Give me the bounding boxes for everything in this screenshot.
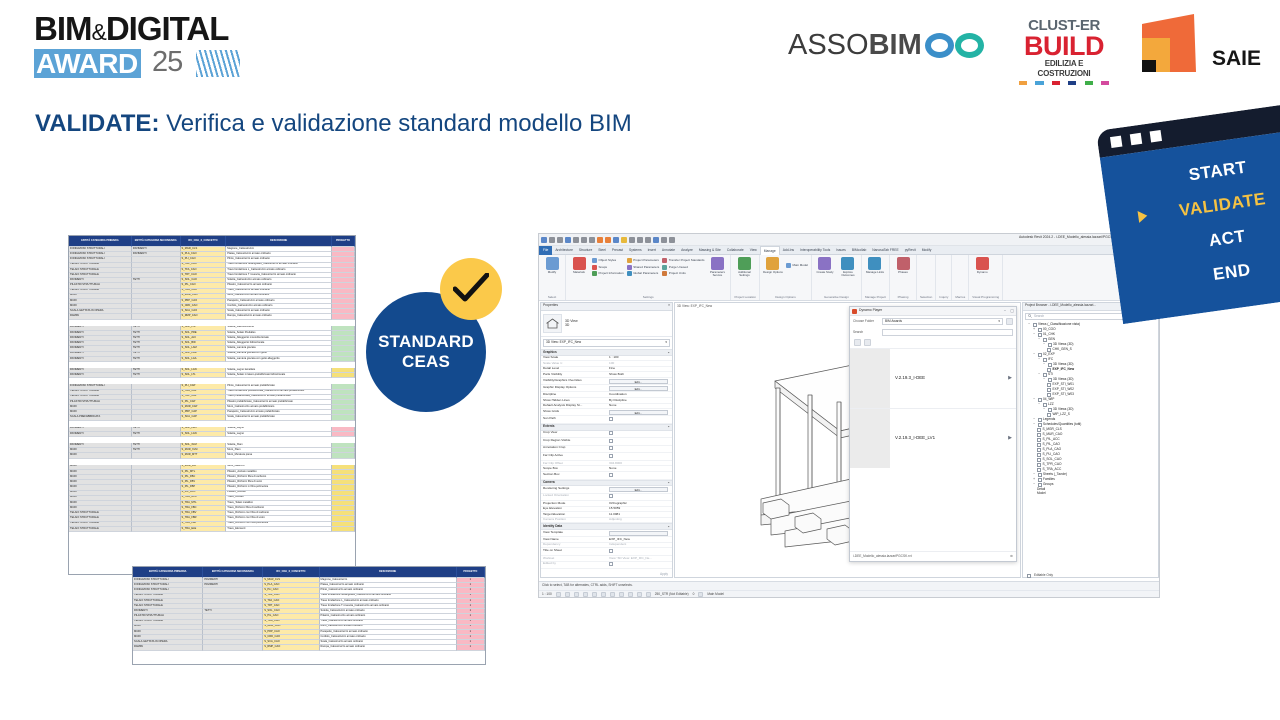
shadows-icon[interactable] — [583, 592, 588, 597]
grid-view-icon[interactable] — [854, 339, 861, 346]
property-value[interactable]: 304.8000 — [609, 462, 670, 465]
cluster-subtitle-text: EDILIZIA E COSTRUZIONI — [1019, 59, 1109, 79]
property-name: Edited by — [543, 562, 609, 567]
property-row[interactable]: Edited by — [541, 562, 672, 570]
ribbon-tab-view[interactable]: View — [747, 246, 760, 255]
checkbox[interactable] — [609, 454, 613, 458]
property-name: Target Elevation — [543, 513, 609, 516]
tree-node-label: 3D Views (3D) — [1053, 363, 1074, 367]
ribbon-tab-add-ins[interactable]: Add-Ins — [780, 246, 797, 255]
folder-icon — [1038, 423, 1042, 427]
property-value[interactable]: Adjusting — [609, 518, 670, 521]
ribbon-tab-bar[interactable]: FileArchitectureStructureSteelPrecastSys… — [539, 246, 1159, 255]
edit-button[interactable]: Edit... — [609, 487, 668, 492]
property-name: Parts Visibility — [543, 373, 609, 376]
purge-unused-icon — [662, 265, 667, 270]
save-as-icon[interactable] — [573, 237, 579, 243]
property-name: Show Grids — [543, 410, 609, 415]
ribbon-item-purge-unused[interactable]: Purge Unused — [662, 265, 704, 270]
reveal-hidden-icon[interactable] — [628, 592, 633, 597]
chevron-down-icon[interactable]: ▾ — [665, 341, 667, 345]
ribbon-button-design-options[interactable]: Design Options — [763, 257, 783, 274]
detail-level-icon[interactable] — [556, 592, 561, 597]
property-value[interactable] — [609, 473, 670, 478]
ribbon-button-materials[interactable]: Materials — [569, 257, 589, 277]
crop-view-icon[interactable] — [601, 592, 606, 597]
property-name: Camera Position — [543, 518, 609, 521]
print-icon[interactable] — [597, 237, 603, 243]
properties-palette[interactable]: Properties × 3D View 3D 3D View: EXP_IFC… — [540, 302, 673, 578]
property-value[interactable] — [609, 454, 670, 459]
tree-node-label: S_TRA_ACC — [1043, 468, 1062, 472]
run-script-icon[interactable]: ▶ — [1004, 436, 1016, 442]
ribbon-button-phases[interactable]: Phases — [893, 257, 913, 274]
ribbon-item-global-parameters[interactable]: Global Parameters — [627, 271, 660, 276]
ribbon-tab-annotate[interactable]: Annotate — [659, 246, 678, 255]
property-value[interactable] — [609, 531, 670, 536]
ribbon-group-visual-programming[interactable]: DynamoVisual Programming — [969, 255, 1003, 300]
run-script-icon[interactable]: ▶ — [1004, 376, 1016, 382]
maximize-icon[interactable]: ▢ — [1010, 309, 1014, 313]
constraints-icon[interactable] — [646, 592, 651, 597]
ribbon-group-select[interactable]: ModifySelect — [539, 255, 566, 300]
collapse-minus-icon[interactable]: − — [1032, 353, 1036, 357]
collapse-minus-icon[interactable]: − — [1042, 363, 1046, 367]
project-units-icon — [662, 271, 667, 276]
property-row[interactable]: Rendering SettingsEdit... — [541, 486, 672, 493]
ribbon-button-modify[interactable]: Modify — [542, 257, 562, 274]
collapse-minus-icon[interactable]: − — [1032, 398, 1036, 402]
dynamo-folder-row[interactable]: Choose Folder BIM Awards ▾ — [850, 316, 1016, 327]
window-dot-2-icon — [1130, 133, 1142, 145]
collapse-minus-icon[interactable]: − — [1037, 373, 1041, 377]
property-name: Crop Region Visible — [543, 439, 609, 444]
ribbon-item-project-units[interactable]: Project Units — [662, 271, 704, 276]
choose-folder-value: BIM Awards — [885, 320, 902, 324]
temporary-hide-isolate-icon[interactable] — [619, 592, 624, 597]
dimension-icon[interactable] — [629, 237, 635, 243]
view-icon — [1047, 368, 1051, 372]
collapse-minus-icon[interactable]: − — [1037, 338, 1041, 342]
property-row[interactable]: Crop Region Visible — [541, 438, 672, 446]
view-icon — [1037, 458, 1041, 462]
project-browser-panel[interactable]: Project Browser - i-DEE_Modello_alessia.… — [1022, 302, 1159, 578]
ribbon-item-snaps[interactable]: Snaps — [592, 265, 624, 270]
ribbon-group-manage-project[interactable]: Manage LinksManage Project — [862, 255, 890, 300]
tree-node-label: GEN — [1048, 338, 1055, 342]
ribbon-group-label: Manage Project — [865, 296, 886, 300]
view-icon — [1047, 388, 1051, 392]
revit-application-screenshot: Autodesk Revit 2024.2 - i-DEE_Modello_al… — [538, 233, 1160, 598]
cell-description: Trave_Elementi — [226, 527, 332, 532]
tree-node-label: S_PIL_CAO — [1043, 443, 1060, 447]
properties-type-preview: 3D View 3D — [541, 311, 672, 337]
dynamo-script-list[interactable]: V.2.19.3_I-DEE▶V.2.19.3_I-DEE_LV1▶ — [850, 348, 1016, 468]
tree-node-label: Schedules/Quantities (tutti) — [1043, 423, 1081, 427]
ribbon-tab-precast[interactable]: Precast — [609, 246, 626, 255]
ribbon-tab-pyrevit[interactable]: pyRevit — [902, 246, 919, 255]
ribbon-item-project-information[interactable]: Project Information — [592, 271, 624, 276]
folder-icon — [1043, 373, 1047, 377]
tree-node-label: EXP_STI_W02 — [1053, 388, 1074, 392]
tree-node-label: 00_COO — [1043, 328, 1056, 332]
cluster-color-bars — [1019, 81, 1109, 85]
property-name: Discipline — [543, 393, 609, 396]
ribbon-button-parameters-service[interactable]: Parameters Service — [707, 257, 727, 277]
collapse-minus-icon[interactable]: − — [1032, 423, 1036, 427]
property-row[interactable]: Crop View — [541, 431, 672, 439]
additional-settings-icon — [738, 257, 751, 270]
dynamo-script-item[interactable]: V.2.19.3_I-DEE_LV1▶ — [850, 408, 1016, 468]
redo-icon[interactable] — [589, 237, 595, 243]
property-value[interactable]: Edit... — [609, 379, 670, 384]
folder-icon — [1043, 403, 1047, 407]
property-value[interactable]: Edit... — [609, 410, 670, 415]
property-row[interactable]: Show GridsEdit... — [541, 409, 672, 416]
table-header-row: ENTITÀ CATEGORIA PRIMARIAENTITÀ CATEGORI… — [69, 236, 355, 247]
collapse-minus-icon[interactable]: − — [1032, 483, 1036, 487]
ribbon-tab-structure[interactable]: Structure — [576, 246, 595, 255]
nav-item-label: ACT — [1208, 226, 1247, 251]
folder-icon — [1038, 353, 1042, 357]
table-entity-classification-main: ENTITÀ CATEGORIA PRIMARIAENTITÀ CATEGORI… — [68, 235, 356, 575]
property-value[interactable]: 1 : 100 — [609, 356, 670, 359]
dynamo-search-row[interactable]: Search — [850, 327, 1016, 338]
nav-item-label: END — [1212, 260, 1252, 285]
property-name: Scope Box — [543, 467, 609, 470]
property-value[interactable]: Coordination — [609, 393, 670, 396]
main-model-label[interactable]: Main Model — [707, 593, 723, 597]
property-name: Projection Mode — [543, 502, 609, 505]
dynamo-view-toggle[interactable] — [850, 338, 1016, 348]
default-3d-view-icon[interactable] — [653, 237, 659, 243]
expand-plus-icon[interactable]: + — [1032, 478, 1036, 482]
close-icon[interactable]: × — [668, 304, 670, 309]
project-browser-footer[interactable]: Editable Only — [1025, 572, 1156, 579]
ribbon-button-explore-outcomes[interactable]: Explore Outcomes — [838, 257, 858, 277]
thin-lines-icon[interactable] — [661, 237, 667, 243]
align-icon[interactable] — [613, 237, 619, 243]
view-icon — [1047, 413, 1051, 417]
property-row[interactable]: Far Clip Active — [541, 453, 672, 461]
ribbon-tab-bimcollab[interactable]: BIMcollab — [849, 246, 869, 255]
tree-node-label: 04_WIP — [1043, 398, 1054, 402]
tree-node-label: Model — [1037, 492, 1046, 496]
ribbon-item-transfer-project-standards[interactable]: Transfer Project Standards — [662, 258, 704, 263]
checkbox[interactable] — [609, 439, 613, 443]
collapse-minus-icon[interactable]: − — [1032, 418, 1036, 422]
ribbon-group-label: Inquiry — [939, 296, 948, 300]
edit-button[interactable] — [609, 531, 668, 536]
ribbon-group-selection[interactable]: Selection — [917, 255, 936, 300]
measure-icon[interactable] — [605, 237, 611, 243]
ribbon-tab-massing-site[interactable]: Massing & Site — [696, 246, 724, 255]
property-value[interactable] — [609, 494, 670, 499]
checkbox[interactable] — [609, 431, 613, 435]
tree-node-label: 3D Views (3D) — [1053, 378, 1074, 382]
transfer-project-standards-icon — [662, 258, 667, 263]
property-value[interactable]: View "3D View: EXP_IFC_Ne... — [609, 557, 670, 560]
properties-type-line2: 3D — [565, 324, 578, 328]
edit-button[interactable]: Edit... — [609, 386, 668, 391]
property-value[interactable] — [609, 446, 670, 451]
view-icon — [1047, 348, 1051, 352]
view-icon — [1037, 433, 1041, 437]
properties-section-identity-data: Identity Data⌄ — [541, 523, 672, 530]
assobim-rings-icon — [925, 30, 991, 60]
type-selector-value: 3D View: EXP_IFC_New — [546, 341, 581, 345]
render-icon[interactable] — [592, 592, 597, 597]
ribbon-group-settings[interactable]: MaterialsObject StylesSnapsProject Infor… — [566, 255, 731, 300]
collapse-minus-icon[interactable]: − — [1032, 473, 1036, 477]
dynamo-footer: i-DEE_Modello_alessia.lazzariPGCSK.rvt ⚙ — [850, 551, 1016, 561]
ribbon-group-label: Visual Programming — [972, 296, 999, 300]
checkbox[interactable] — [609, 494, 613, 498]
ribbon-button-additional-settings[interactable]: Additional Settings — [734, 257, 754, 277]
property-value[interactable] — [609, 417, 670, 422]
ribbon-button-manage-links[interactable]: Manage Links — [865, 257, 885, 274]
property-value[interactable]: Orthographic — [609, 502, 670, 505]
folder-icon — [1048, 408, 1052, 412]
undo-icon[interactable] — [581, 237, 587, 243]
collapse-minus-icon[interactable]: − — [1042, 408, 1046, 412]
apply-label: Apply — [660, 573, 668, 577]
properties-rows[interactable]: Graphics⌄View Scale1 : 100Scale Value 1:… — [541, 349, 672, 569]
check-icon — [440, 258, 502, 320]
ribbon-group-label: Settings — [569, 296, 727, 300]
ribbon-group-phasing[interactable]: PhasesPhasing — [890, 255, 917, 300]
saie-mark-icon — [1136, 14, 1208, 72]
property-value[interactable] — [609, 549, 670, 554]
ribbon-group-macros[interactable]: Macros — [952, 255, 969, 300]
property-value[interactable]: Edit... — [609, 487, 670, 492]
property-row[interactable]: Graphic Display OptionsEdit... — [541, 385, 672, 392]
ribbon-tab-collaborate[interactable]: Collaborate — [724, 246, 747, 255]
ribbon-tab-file[interactable]: File — [539, 246, 552, 255]
ribbon-button-create-study[interactable]: Create Study — [815, 257, 835, 277]
property-name: Visibility/Graphics Overrides — [543, 379, 609, 384]
column-header: DESCRIZIONE — [226, 236, 332, 247]
save-icon[interactable] — [565, 237, 571, 243]
chevron-down-icon[interactable]: ▾ — [998, 320, 1000, 324]
table-entity-classification-secondary: ENTITÀ CATEGORIA PRIMARIAENTITÀ CATEGORI… — [132, 566, 486, 665]
ribbon-tab-modify[interactable]: Modify — [919, 246, 935, 255]
dynamo-titlebar: Dynamo Player − ▢ — [850, 307, 1016, 316]
cell-description: Rampa_Calcestruzzo armato ordinario — [320, 645, 457, 650]
ribbon-tab-insert[interactable]: Insert — [645, 246, 659, 255]
page-title-keyword: VALIDATE: — [35, 110, 159, 137]
ribbon-group-project-location[interactable]: Additional SettingsProject Location — [731, 255, 760, 300]
nav-item-label: VALIDATE — [1178, 189, 1267, 221]
ribbon-group-generative-design[interactable]: Create StudyExplore OutcomesGenerative D… — [812, 255, 862, 300]
collapse-minus-icon[interactable]: − — [1042, 378, 1046, 382]
property-value[interactable]: 11.0081 — [609, 513, 670, 516]
tree-node-label: EXP_IFC_New — [1053, 368, 1075, 372]
tree-node-label: STI — [1048, 373, 1053, 377]
tree-node-label: IFC — [1048, 358, 1053, 362]
script-thumbnail — [850, 349, 890, 408]
nav-panel-body[interactable]: STARTVALIDATEACTEND — [1100, 126, 1280, 324]
collapse-minus-icon[interactable]: − — [1042, 343, 1046, 347]
edit-button[interactable]: Edit... — [609, 379, 668, 384]
tag-icon[interactable] — [621, 237, 627, 243]
folder-icon — [1038, 398, 1042, 402]
dynamo-script-item[interactable]: V.2.19.3_I-DEE▶ — [850, 348, 1016, 408]
table-header-row: ENTITÀ CATEGORIA PRIMARIAENTITÀ CATEGORI… — [133, 567, 485, 578]
saie-text: SAIE — [1212, 47, 1261, 71]
collapse-minus-icon[interactable]: − — [1032, 333, 1036, 337]
property-row[interactable]: Locked Orientation — [541, 494, 672, 502]
hide-crop-icon[interactable] — [610, 592, 615, 597]
property-row[interactable]: Annotation Crop — [541, 446, 672, 454]
new-icon[interactable] — [549, 237, 555, 243]
property-value[interactable]: None — [609, 467, 670, 470]
ribbon-tab-manage[interactable]: Manage — [760, 246, 780, 255]
phases-icon — [897, 257, 910, 270]
shared-parameters-icon — [627, 265, 632, 270]
table-row: RAMPAS_RMP_CAORampa_Calcestruzzo armato … — [133, 645, 485, 650]
column-header: PROGETTO — [457, 567, 485, 578]
ribbon-tab-interoperability-tools[interactable]: Interoperability Tools — [797, 246, 833, 255]
status-controls-row[interactable]: 1 : 100 250_STR (Not Editable) 0 Main Mo… — [539, 590, 1159, 598]
ribbon-tab-systems[interactable]: Systems — [626, 246, 645, 255]
cell-code: S_TRA_ELE — [181, 527, 227, 532]
tree-node-label: Families — [1043, 478, 1055, 482]
logo-line-2: AWARD 25 — [34, 49, 239, 78]
close-hidden-windows-icon[interactable] — [669, 237, 675, 243]
active-workset[interactable]: 250_STR (Not Editable) — [655, 593, 689, 597]
property-value[interactable]: Edit... — [609, 386, 670, 391]
list-view-icon[interactable] — [864, 339, 871, 346]
checkbox[interactable] — [609, 446, 613, 450]
materials-icon — [573, 257, 586, 270]
script-thumbnail — [850, 409, 890, 468]
tree-node-label: Views (_Classificazione vista) — [1038, 323, 1080, 327]
editable-only-checkbox[interactable] — [1027, 574, 1031, 578]
ribbon-group-design-options[interactable]: Design OptionsMain ModelDesign Options — [760, 255, 812, 300]
slide-header: BIM&DIGITAL AWARD 25 ASSOBIM CLUST-ER BU… — [0, 0, 1280, 95]
search-input[interactable] — [882, 329, 1013, 336]
parameters-service-icon — [711, 257, 724, 270]
ribbon-tab-analyze[interactable]: Analyze — [678, 246, 696, 255]
expand-plus-icon[interactable]: + — [1032, 328, 1036, 332]
ribbon-tab-architecture[interactable]: Architecture — [552, 246, 576, 255]
ribbon-item-shared-parameters[interactable]: Shared Parameters — [627, 265, 660, 270]
tree-node-label: S_MGR_CLS — [1043, 428, 1062, 432]
ribbon-tab-steel[interactable]: Steel — [595, 246, 609, 255]
properties-section-graphics: Graphics⌄ — [541, 349, 672, 356]
ribbon-tab-issues[interactable]: Issues — [833, 246, 849, 255]
property-name: Scale Value 1: — [543, 362, 609, 365]
folder-icon — [1038, 473, 1042, 477]
checkbox[interactable] — [609, 549, 613, 553]
ribbon-group-label: Select — [542, 296, 562, 300]
main-model-icon — [786, 263, 791, 268]
property-value[interactable] — [609, 562, 670, 567]
dynamo-player-dialog[interactable]: Dynamo Player − ▢ Choose Folder BIM Awar… — [849, 306, 1017, 562]
tree-node[interactable]: Model — [1025, 492, 1156, 497]
property-value[interactable]: EXP_IFC_New — [609, 538, 670, 541]
design-option-icon[interactable] — [698, 592, 703, 597]
property-value[interactable] — [609, 439, 670, 444]
ribbon-group-label: Generative Design — [815, 296, 858, 300]
collapse-minus-icon[interactable]: − — [1027, 323, 1031, 327]
property-row[interactable]: Visibility/Graphics OverridesEdit... — [541, 378, 672, 385]
column-header: ENTITÀ CATEGORIA SECONDARIA — [132, 236, 181, 247]
search-icon — [1028, 314, 1032, 320]
choose-folder-dropdown[interactable]: BIM Awards ▾ — [882, 318, 1003, 325]
property-value[interactable]: 15.5059 — [609, 507, 670, 510]
project-information-icon — [592, 271, 597, 276]
ribbon-item-object-styles[interactable]: Object Styles — [592, 258, 624, 263]
checkbox[interactable] — [609, 417, 613, 421]
tree-node-label: LZZ — [1048, 403, 1054, 407]
project-browser-tree[interactable]: −Views (_Classificazione vista)+00_COO−0… — [1023, 322, 1158, 570]
collapse-minus-icon[interactable]: − — [1037, 358, 1041, 362]
cell-code: S_RMP_CAO — [263, 645, 319, 650]
property-name: Graphic Display Options — [543, 386, 609, 391]
property-row[interactable]: View Template — [541, 530, 672, 537]
minimize-icon[interactable]: − — [1004, 309, 1006, 313]
view-icon — [1037, 453, 1041, 457]
browse-folder-icon[interactable] — [1006, 318, 1013, 325]
property-row[interactable]: Section Box — [541, 472, 672, 480]
property-value[interactable]: 100 — [609, 362, 670, 365]
ribbon-item-project-parameters[interactable]: Project Parameters — [627, 258, 660, 263]
property-value[interactable]: Show Both — [609, 373, 670, 376]
ribbon-item-main-model[interactable]: Main Model — [786, 263, 808, 268]
property-row[interactable]: Sun Path — [541, 416, 672, 424]
collapse-minus-icon[interactable]: − — [1037, 403, 1041, 407]
properties-section-camera: Camera⌄ — [541, 480, 672, 487]
section-icon[interactable] — [645, 237, 651, 243]
sun-path-icon[interactable] — [574, 592, 579, 597]
type-selector-dropdown[interactable]: 3D View: EXP_IFC_New ▾ — [543, 339, 670, 347]
property-value[interactable]: Independent — [609, 543, 670, 546]
dynamo-window-buttons[interactable]: − ▢ — [1004, 309, 1014, 313]
cell-secondary-entity — [203, 645, 263, 650]
property-name: Detail Level — [543, 367, 609, 370]
checkbox[interactable] — [609, 562, 613, 566]
process-nav-panel[interactable]: STARTVALIDATEACTEND — [1096, 99, 1280, 324]
property-value[interactable] — [609, 431, 670, 436]
property-value[interactable]: By Discipline — [609, 399, 670, 402]
dynamo-icon — [976, 257, 989, 270]
apply-button[interactable]: Apply — [543, 571, 670, 579]
quick-access-toolbar[interactable]: Autodesk Revit 2024.2 - i-DEE_Modello_al… — [539, 234, 1159, 246]
ribbon-tab-nanosatab-free[interactable]: NanosaTab FREE — [869, 246, 901, 255]
property-name: Crop View — [543, 431, 609, 436]
text-icon[interactable] — [637, 237, 643, 243]
view-scale-label: 1 : 100 — [542, 593, 552, 597]
ribbon-panel[interactable]: ModifySelectMaterialsObject StylesSnapsP… — [539, 255, 1159, 301]
property-name: Section Box — [543, 473, 609, 478]
analytical-model-icon[interactable] — [637, 592, 642, 597]
ribbon-group-inquiry[interactable]: Inquiry — [936, 255, 952, 300]
active-arrow-icon — [1138, 210, 1149, 223]
property-value[interactable]: Fine — [609, 367, 670, 370]
checkbox[interactable] — [609, 473, 613, 477]
property-value[interactable]: None — [609, 404, 670, 407]
visual-style-icon[interactable] — [565, 592, 570, 597]
settings-icon[interactable]: ⚙ — [1010, 555, 1013, 559]
property-row[interactable]: Title on Sheet — [541, 548, 672, 556]
ribbon-button-dynamo[interactable]: Dynamo — [972, 257, 992, 274]
tree-node-label: S_SOL_CAO — [1043, 458, 1062, 462]
cell-primary-entity: RAMPA — [133, 645, 203, 650]
open-icon[interactable] — [557, 237, 563, 243]
edit-button[interactable]: Edit... — [609, 410, 668, 415]
